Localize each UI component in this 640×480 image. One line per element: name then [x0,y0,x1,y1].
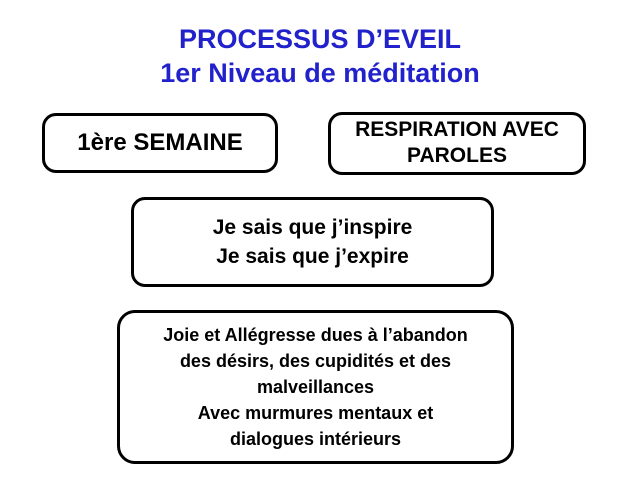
breathing-with-words-box: RESPIRATION AVEC PAROLES [328,112,586,175]
joy-box-line-4: Avec murmures mentaux et [198,400,433,426]
joy-box-line-2: des désirs, des cupidités et des [180,348,451,374]
breathing-with-words-line-2: PAROLES [407,143,507,169]
joy-box: Joie et Allégresse dues à l’abandon des … [117,310,514,464]
joy-box-line-3: malveillances [257,374,374,400]
slide-title: PROCESSUS D’EVEIL 1er Niveau de méditati… [0,22,640,90]
title-line-1: PROCESSUS D’EVEIL [0,22,640,56]
week-box: 1ère SEMAINE [42,113,278,173]
breathing-with-words-line-1: RESPIRATION AVEC [355,117,559,143]
breath-awareness-box: Je sais que j’inspire Je sais que j’expi… [131,197,494,287]
title-line-2: 1er Niveau de méditation [0,56,640,90]
slide-canvas: PROCESSUS D’EVEIL 1er Niveau de méditati… [0,0,640,480]
joy-box-line-1: Joie et Allégresse dues à l’abandon [163,322,467,348]
joy-box-line-5: dialogues intérieurs [230,426,401,452]
week-box-line-1: 1ère SEMAINE [77,129,242,157]
breath-awareness-line-2: Je sais que j’expire [216,242,409,271]
breath-awareness-line-1: Je sais que j’inspire [213,213,413,242]
